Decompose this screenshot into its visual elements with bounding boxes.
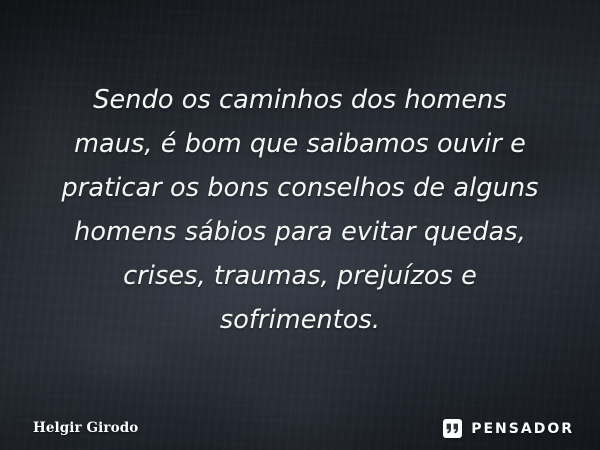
pensador-logo[interactable]: PENSADOR <box>443 419 574 438</box>
author-name[interactable]: Helgir Girodo <box>33 420 138 436</box>
quote-card: Sendo os caminhos dos homens maus, é bom… <box>0 0 600 450</box>
quote-mark-icon <box>443 419 462 438</box>
quote-text: Sendo os caminhos dos homens maus, é bom… <box>0 78 600 342</box>
pensador-wordmark: PENSADOR <box>471 421 574 437</box>
